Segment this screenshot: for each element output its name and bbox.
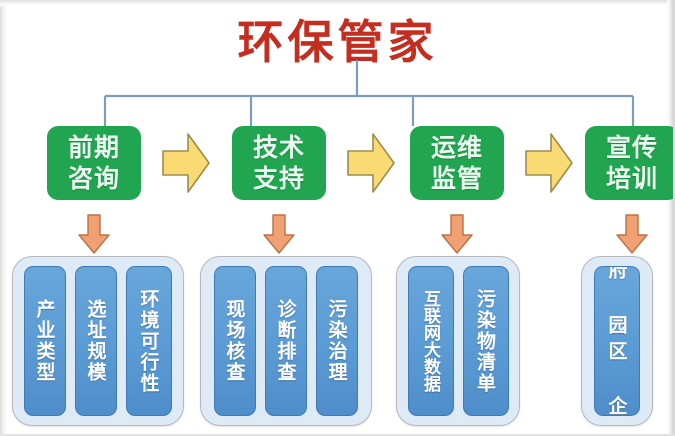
group-chip[interactable]: 环境可行性 xyxy=(126,266,172,416)
chevron-right-2-icon xyxy=(345,131,397,195)
group-1: 产业类型选址规模环境可行性 xyxy=(12,256,184,426)
group-2: 现场核查诊断排查污染治理 xyxy=(200,256,372,426)
stage-label-line: 运维 xyxy=(431,132,483,163)
stage-label-line: 培训 xyxy=(606,163,658,194)
diagram-canvas: 环保管家 前期咨询技术支持运维监管宣传培训 产业类型选址规模环境可行性现场核查诊… xyxy=(0,0,675,436)
group-chip[interactable]: 诊断排查 xyxy=(265,266,307,416)
chevron-shape xyxy=(348,134,394,192)
group-chip[interactable]: 互联网大数据 xyxy=(408,266,454,416)
down-arrow-2-icon xyxy=(262,213,296,255)
down-arrow-1-icon xyxy=(77,213,111,255)
chevron-shape xyxy=(526,134,572,192)
group-chip[interactable]: 污染物清单 xyxy=(463,266,509,416)
stage-box-2[interactable]: 技术支持 xyxy=(232,126,326,200)
group-chip[interactable]: 选址规模 xyxy=(75,266,117,416)
group-chip[interactable]: 产业类型 xyxy=(24,266,66,416)
stage-box-1[interactable]: 前期咨询 xyxy=(47,126,141,200)
stage-box-3[interactable]: 运维监管 xyxy=(410,126,504,200)
stage-label-line: 支持 xyxy=(253,163,305,194)
chevron-shape xyxy=(163,134,209,192)
group-3: 互联网大数据污染物清单 xyxy=(396,256,520,426)
stage-label-line: 监管 xyxy=(431,163,483,194)
stage-label-line: 咨询 xyxy=(68,163,120,194)
stage-label-line: 宣传 xyxy=(606,132,658,163)
bracket-connector xyxy=(0,60,675,135)
down-arrow-shape xyxy=(442,215,472,253)
down-arrow-shape xyxy=(264,215,294,253)
down-arrow-3-icon xyxy=(440,213,474,255)
down-arrow-shape xyxy=(617,215,647,253)
group-chip[interactable]: 污染治理 xyxy=(316,266,358,416)
chevron-right-1-icon xyxy=(160,131,212,195)
stage-label-line: 技术 xyxy=(253,132,305,163)
group-chip[interactable]: 政府 园区 企业 xyxy=(594,266,640,416)
stage-box-4[interactable]: 宣传培训 xyxy=(585,126,675,200)
group-chip[interactable]: 现场核查 xyxy=(214,266,256,416)
chevron-right-3-icon xyxy=(523,131,575,195)
page-edge-shadow-top xyxy=(0,0,675,6)
down-arrow-4-icon xyxy=(615,213,649,255)
down-arrow-shape xyxy=(79,215,109,253)
stage-label-line: 前期 xyxy=(68,132,120,163)
group-4: 政府 园区 企业 xyxy=(581,256,653,426)
